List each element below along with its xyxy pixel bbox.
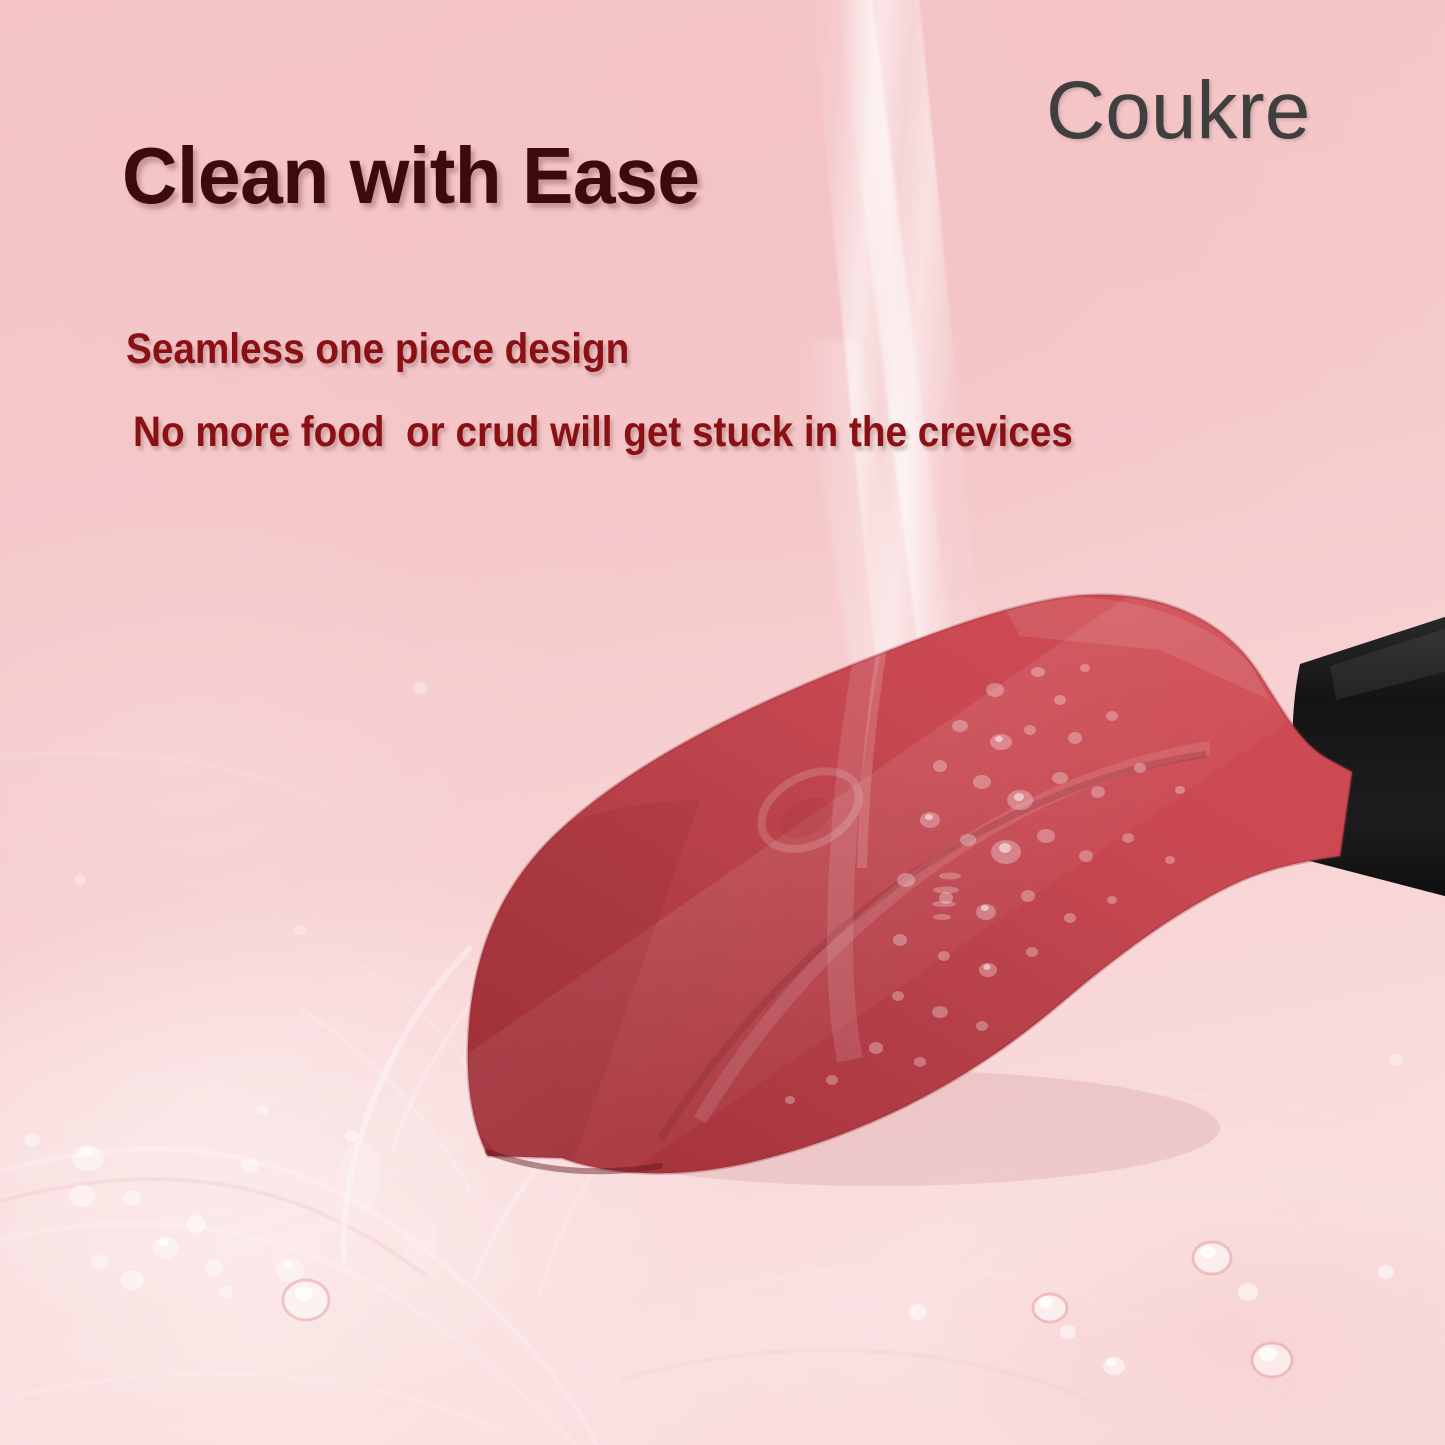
page-title: Clean with Ease [122, 136, 700, 216]
subheading-no-crevices: No more food or crud will get stuck in t… [133, 411, 1073, 454]
subheading-seamless-design: Seamless one piece design [126, 328, 629, 371]
product-banner: Clean with Ease Coukre Seamless one piec… [0, 0, 1445, 1445]
brand-name: Coukre [1046, 70, 1310, 152]
